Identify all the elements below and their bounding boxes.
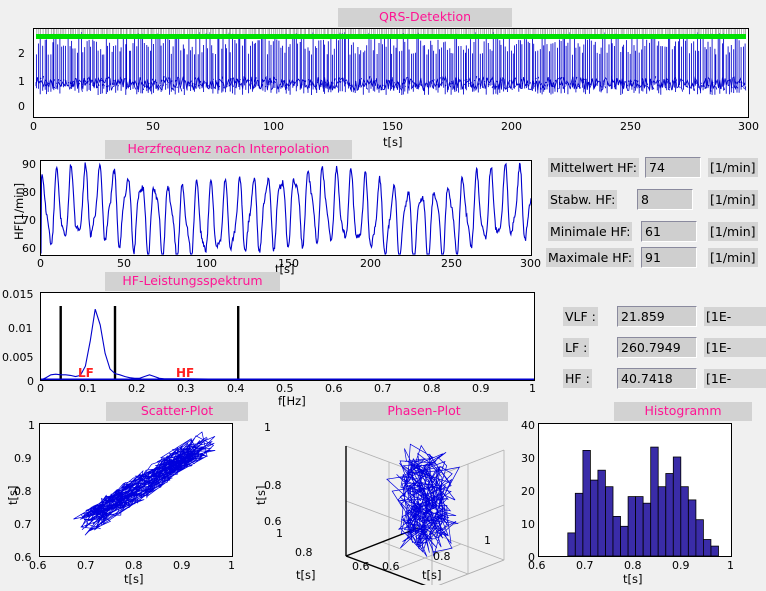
- band-value-0[interactable]: 21.859: [617, 306, 697, 327]
- hrinterp-xtick-2: 100: [196, 257, 217, 270]
- histogram-ytick-40: 40: [521, 419, 535, 432]
- phase-left-tick-06: 0.6: [352, 560, 370, 573]
- scatter-title: Scatter-Plot: [106, 402, 248, 421]
- qrs-ytick-1: 1: [18, 75, 25, 88]
- histogram-ytick-10: 10: [521, 518, 535, 531]
- hrinterp-ytick-90: 90: [22, 158, 36, 171]
- stat-unit-3: [1/min]: [708, 248, 758, 267]
- spectrum-xtick-02: 0.2: [128, 382, 146, 395]
- stat-value-2[interactable]: 61: [641, 221, 697, 242]
- histogram-plot-area: [538, 423, 732, 557]
- phase-right-tick-1: 1: [484, 534, 491, 547]
- band-label-1: LF :: [563, 338, 589, 357]
- histogram-xtick-07: 0.7: [576, 559, 594, 572]
- spectrum-plot-area: [40, 292, 535, 381]
- stat-label-3: Maximale HF:: [546, 248, 634, 267]
- spectrum-ytick-0015: 0.015: [2, 288, 34, 301]
- stat-unit-0: [1/min]: [708, 158, 758, 177]
- qrs-xtick-5: 250: [620, 120, 641, 133]
- band-value-1[interactable]: 260.7949: [617, 337, 697, 358]
- spectrum-xtick-06: 0.6: [325, 382, 343, 395]
- qrs-xtick-4: 200: [501, 120, 522, 133]
- band-label-0: VLF :: [563, 307, 598, 326]
- spectrum-xtick-09: 0.9: [472, 382, 490, 395]
- qrs-xtick-0: 0: [30, 120, 37, 133]
- phase-right-tick-08: 0.8: [433, 550, 451, 563]
- phase-xaxis-label-right: t[s]: [422, 568, 441, 582]
- spectrum-xtick-1: 1: [529, 382, 536, 395]
- phase-ztick-08: 0.8: [264, 479, 282, 492]
- phase-title: Phasen-Plot: [340, 402, 508, 421]
- band-label-2: HF :: [563, 369, 592, 388]
- stat-unit-1: [1/min]: [708, 190, 758, 209]
- scatter-ytick-08: 0.8: [14, 485, 32, 498]
- qrs-ytick-2: 2: [18, 47, 25, 60]
- hrinterp-xtick-1: 50: [117, 257, 131, 270]
- spectrum-svg: [41, 293, 534, 380]
- qrs-xtick-6: 300: [738, 120, 759, 133]
- scatter-ytick-07: 0.7: [14, 518, 32, 531]
- histogram-xaxis-label: t[s]: [623, 572, 642, 586]
- stat-value-0[interactable]: 74: [645, 157, 701, 178]
- qrs-signal-svg: [34, 29, 748, 117]
- spectrum-xtick-04: 0.4: [227, 382, 245, 395]
- hrinterp-plot-area: [40, 160, 532, 256]
- band-value-2[interactable]: 40.7418: [617, 368, 697, 389]
- qrs-xtick-2: 100: [263, 120, 284, 133]
- spectrum-ytick-001: 0.01: [8, 322, 33, 335]
- spectrum-xtick-03: 0.3: [177, 382, 195, 395]
- spectrum-ytick-0005: 0.005: [2, 351, 34, 364]
- hrinterp-line-svg: [41, 161, 531, 255]
- histogram-xtick-08: 0.8: [624, 559, 642, 572]
- histogram-xtick-1: 1: [727, 559, 734, 572]
- stat-value-1[interactable]: 8: [637, 189, 693, 210]
- qrs-xtick-1: 50: [146, 120, 160, 133]
- spectrum-annotation-hf: HF: [176, 366, 194, 380]
- hrinterp-xtick-6: 300: [520, 257, 541, 270]
- qrs-xtick-3: 150: [382, 120, 403, 133]
- scatter-ytick-1: 1: [28, 419, 35, 432]
- hrinterp-xtick-0: 0: [37, 257, 44, 270]
- spectrum-xtick-08: 0.8: [423, 382, 441, 395]
- histogram-xtick-09: 0.9: [672, 559, 690, 572]
- phase-left-tick-08: 0.8: [295, 546, 313, 559]
- hrinterp-xtick-4: 200: [360, 257, 381, 270]
- spectrum-annotation-lf: LF: [78, 366, 94, 380]
- scatter-ytick-09: 0.9: [14, 452, 32, 465]
- spectrum-xtick-01: 0.1: [79, 382, 97, 395]
- hrinterp-ytick-70: 70: [22, 214, 36, 227]
- scatter-plot-area: [39, 423, 233, 557]
- hrinterp-ytick-80: 80: [22, 186, 36, 199]
- stat-label-0: Mittelwert HF:: [548, 158, 639, 177]
- qrs-plot-area: [33, 28, 749, 118]
- phase-ztick-1: 1: [264, 421, 271, 434]
- stat-label-1: Stabw. HF:: [548, 190, 617, 209]
- spectrum-xtick-0: 0: [37, 382, 44, 395]
- hrinterp-ytick-60: 60: [22, 242, 36, 255]
- qrs-title: QRS-Detektion: [338, 8, 512, 27]
- band-unit-2: [1E-: [704, 369, 766, 388]
- spectrum-xaxis-label: f[Hz]: [278, 394, 306, 408]
- scatter-xtick-06: 0.6: [29, 559, 47, 572]
- histogram-xtick-06: 0.6: [528, 559, 546, 572]
- histogram-ytick-30: 30: [521, 452, 535, 465]
- phase-xaxis-label-left: t[s]: [296, 568, 315, 582]
- hrinterp-xtick-5: 250: [441, 257, 462, 270]
- phase-right-tick-06: 0.6: [382, 560, 400, 573]
- scatter-svg: [40, 424, 232, 556]
- scatter-xtick-08: 0.8: [125, 559, 143, 572]
- stat-unit-2: [1/min]: [708, 222, 758, 241]
- scatter-xtick-07: 0.7: [77, 559, 95, 572]
- spectrum-ytick-0: 0: [27, 375, 34, 388]
- scatter-xtick-1: 1: [228, 559, 235, 572]
- histogram-svg: [539, 424, 731, 556]
- spectrum-xtick-07: 0.7: [374, 382, 392, 395]
- hrinterp-title: Herzfrequenz nach Interpolation: [105, 140, 352, 159]
- stat-value-3[interactable]: 91: [641, 247, 697, 268]
- band-unit-0: [1E-: [704, 307, 766, 326]
- qrs-xaxis-label: t[s]: [383, 135, 402, 149]
- band-unit-1: [1E-: [704, 338, 766, 357]
- spectrum-title: HF-Leistungsspektrum: [105, 272, 280, 291]
- histogram-ytick-20: 20: [521, 485, 535, 498]
- scatter-xtick-09: 0.9: [173, 559, 191, 572]
- phase-left-tick-1: 1: [276, 527, 283, 540]
- stat-label-2: Minimale HF:: [548, 222, 632, 241]
- histogram-title: Histogramm: [614, 402, 752, 421]
- qrs-threshold-line: [36, 34, 746, 39]
- qrs-ytick-0: 0: [18, 100, 25, 113]
- scatter-xaxis-label: t[s]: [124, 572, 143, 586]
